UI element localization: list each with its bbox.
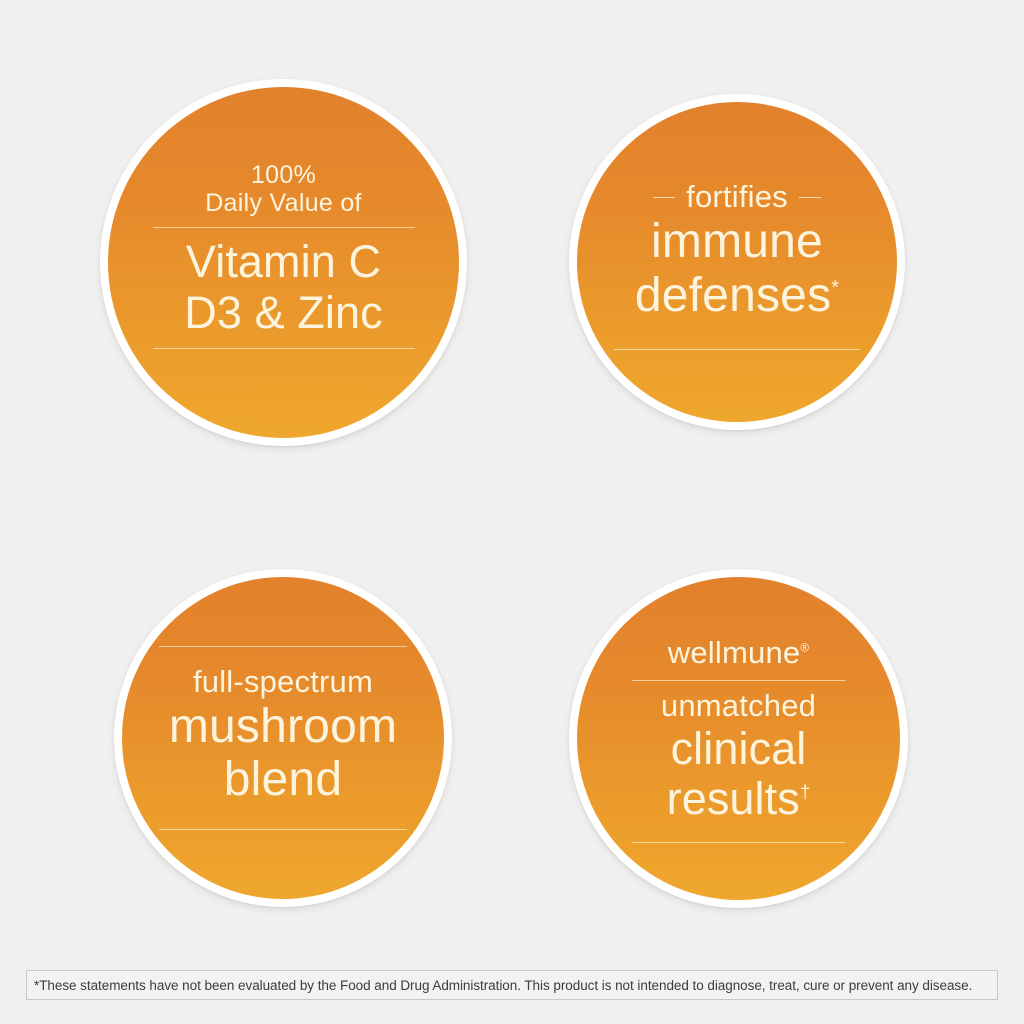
dash-left-icon bbox=[653, 197, 675, 198]
disclaimer-text: *These statements have not been evaluate… bbox=[34, 978, 972, 993]
badge-headline-line-2: defenses* bbox=[635, 269, 839, 323]
badge-eyebrow: full-spectrum bbox=[193, 665, 373, 700]
badge-content: wellmune® unmatched clinical results† bbox=[632, 636, 845, 842]
badge-content: 100% Daily Value of Vitamin C D3 & Zinc bbox=[153, 161, 415, 358]
footnote-mark: * bbox=[831, 277, 839, 299]
badge-mushroom-blend[interactable]: full-spectrum mushroom blend bbox=[114, 569, 452, 907]
badge-headline-line-1: immune bbox=[651, 215, 823, 269]
badge-immune-defenses[interactable]: fortifies immune defenses* bbox=[569, 94, 905, 430]
dash-right-icon bbox=[799, 197, 821, 198]
badge-eyebrow-line-2: Daily Value of bbox=[205, 189, 362, 217]
disclaimer-bar: *These statements have not been evaluate… bbox=[26, 970, 998, 1000]
badge-headline-line-2: blend bbox=[224, 753, 342, 807]
badge-divider-top bbox=[159, 646, 407, 647]
badge-disc: full-spectrum mushroom blend bbox=[122, 577, 444, 899]
badge-disc: wellmune® unmatched clinical results† bbox=[577, 577, 900, 900]
footnote-mark: † bbox=[800, 782, 811, 803]
badge-disc: 100% Daily Value of Vitamin C D3 & Zinc bbox=[108, 87, 459, 438]
badge-divider-bottom bbox=[159, 829, 407, 830]
badge-wellmune[interactable]: wellmune® unmatched clinical results† bbox=[569, 569, 908, 908]
badge-headline-text: results bbox=[667, 773, 800, 824]
badge-divider-top bbox=[153, 227, 415, 228]
badge-eyebrow: fortifies bbox=[686, 180, 788, 215]
badge-disc: fortifies immune defenses* bbox=[577, 102, 897, 422]
badge-headline-line-2: results† bbox=[667, 774, 811, 824]
badge-eyebrow-line-1: 100% bbox=[251, 161, 316, 189]
badge-divider-top bbox=[632, 680, 845, 681]
badge-eyebrow: unmatched bbox=[661, 689, 816, 724]
badge-headline-line-1: clinical bbox=[671, 724, 807, 774]
badge-headline-line-1: Vitamin C bbox=[186, 237, 381, 287]
badge-headline-line-1: mushroom bbox=[169, 700, 397, 754]
badge-daily-value[interactable]: 100% Daily Value of Vitamin C D3 & Zinc bbox=[100, 79, 467, 446]
badge-headline-line-2: D3 & Zinc bbox=[184, 288, 382, 338]
badge-content: fortifies immune defenses* bbox=[614, 180, 860, 349]
badge-stage: 100% Daily Value of Vitamin C D3 & Zinc … bbox=[0, 0, 1024, 1024]
badge-brand-text: wellmune bbox=[668, 635, 801, 670]
badge-divider-bottom bbox=[153, 348, 415, 349]
badge-brand: wellmune® bbox=[668, 636, 809, 671]
badge-headline-text: defenses bbox=[635, 269, 831, 322]
badge-eyebrow-row: fortifies bbox=[653, 180, 821, 215]
badge-content: full-spectrum mushroom blend bbox=[159, 646, 407, 830]
badge-divider-bottom bbox=[614, 349, 860, 350]
registered-mark-icon: ® bbox=[800, 642, 809, 655]
badge-divider-bottom bbox=[632, 842, 845, 843]
